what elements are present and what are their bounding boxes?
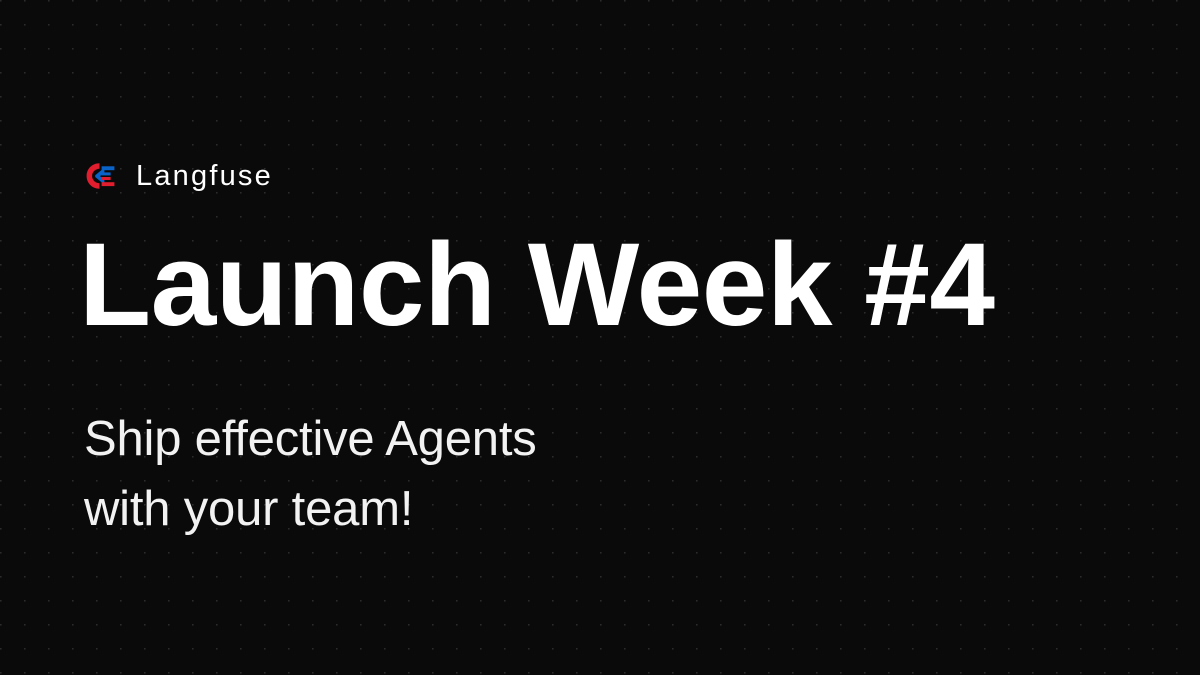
launch-week-banner: Langfuse Launch Week #4 Ship effective A… [0, 0, 1200, 675]
brand-lockup: Langfuse [84, 157, 273, 195]
subtitle-line-2: with your team! [84, 474, 537, 544]
brand-name: Langfuse [136, 162, 273, 191]
page-subtitle: Ship effective Agents with your team! [84, 404, 537, 544]
langfuse-logomark-icon [84, 162, 116, 190]
subtitle-line-1: Ship effective Agents [84, 404, 537, 474]
page-title: Launch Week #4 [79, 226, 995, 344]
banner-content: Langfuse Launch Week #4 Ship effective A… [84, 0, 1144, 675]
